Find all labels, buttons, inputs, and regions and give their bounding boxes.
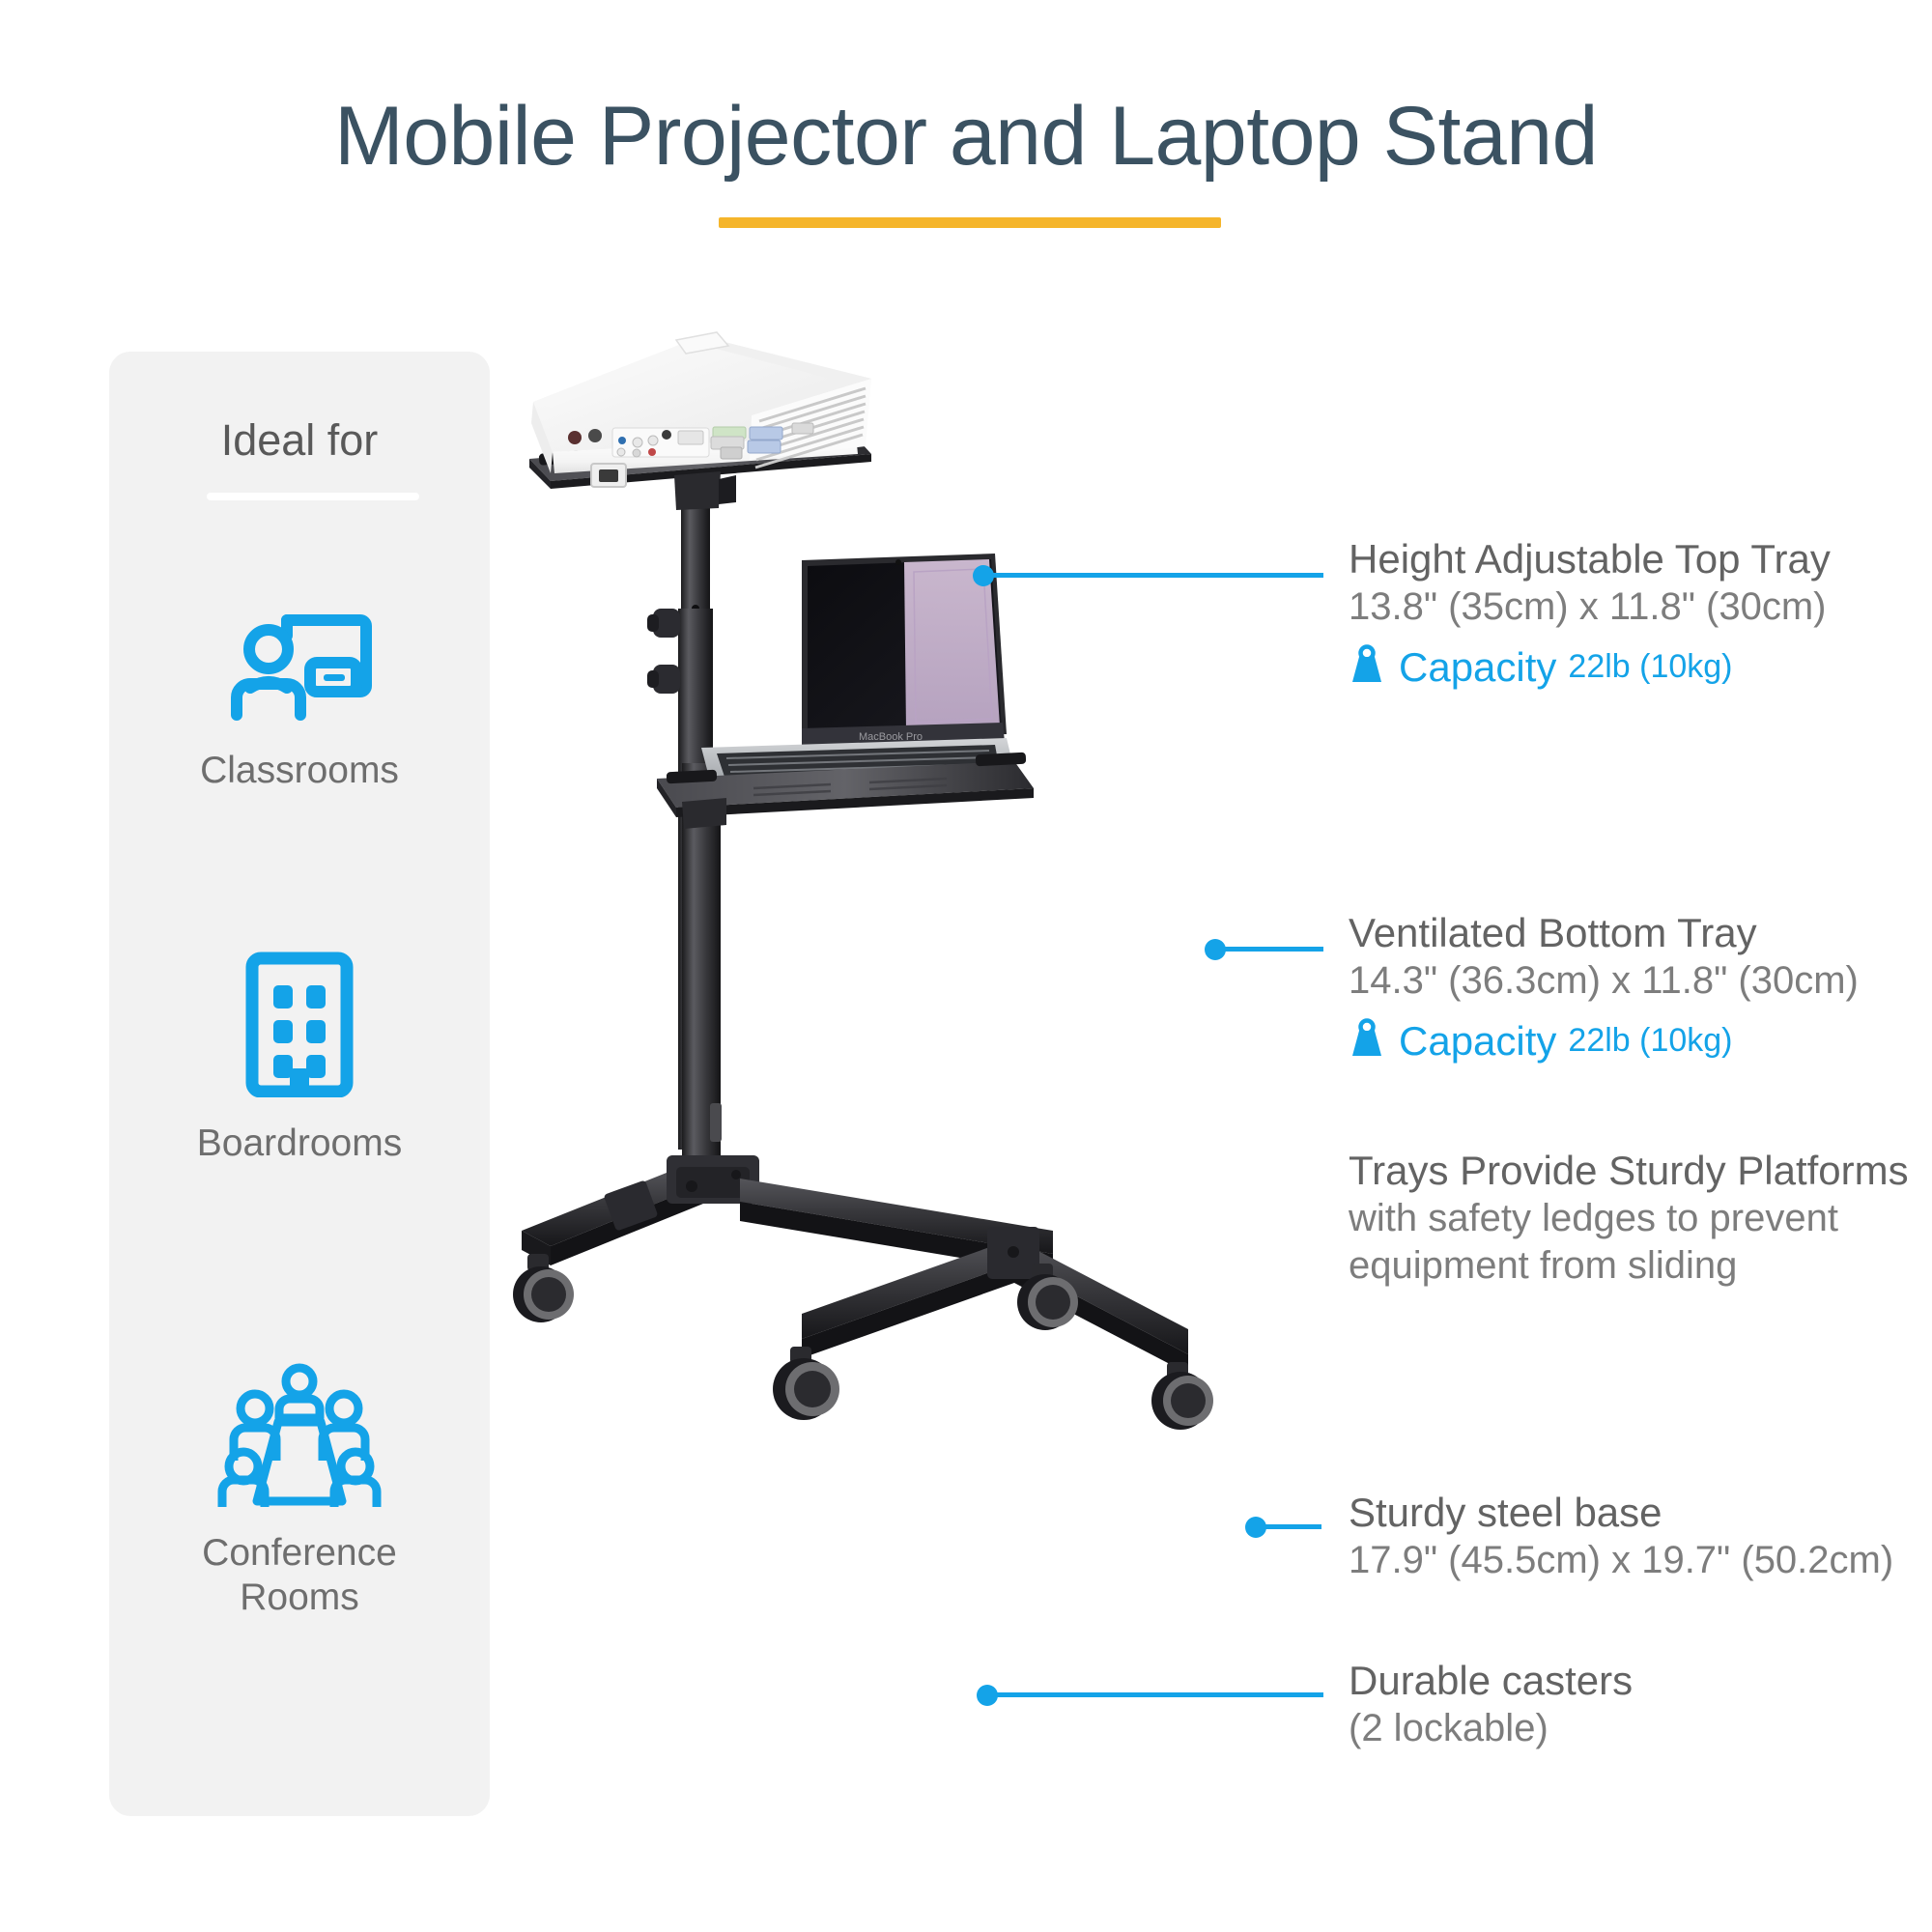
title-accent-rule: [719, 217, 1221, 228]
ideal-for-heading: Ideal for: [109, 415, 490, 466]
ideal-for-panel: Ideal for Classrooms: [109, 352, 490, 1816]
callout-leader-line: [987, 1692, 1323, 1697]
ideal-item-classrooms: Classrooms: [109, 611, 490, 793]
callout-subtext: 17.9" (45.5cm) x 19.7" (50.2cm): [1349, 1537, 1889, 1584]
callout-leader-dot: [973, 565, 994, 586]
caster-back-left: [513, 1254, 574, 1322]
product-image: MacBook Pro: [512, 319, 1304, 1787]
capacity-row: Capacity 22lb (10kg): [1349, 1018, 1889, 1065]
callout-heading: Durable casters: [1349, 1658, 1889, 1705]
callout-subtext: 13.8" (35cm) x 11.8" (30cm): [1349, 583, 1889, 631]
ideal-item-boardrooms: Boardrooms: [109, 951, 490, 1166]
page-title: Mobile Projector and Laptop Stand: [0, 89, 1932, 185]
caster-front-left: [773, 1347, 839, 1420]
capacity-row: Capacity 22lb (10kg): [1349, 644, 1889, 691]
ideal-item-label: Conference Rooms: [109, 1531, 490, 1620]
ideal-item-label: Boardrooms: [109, 1122, 490, 1166]
callout-leader-line: [1215, 947, 1323, 952]
callout-leader-dot: [1245, 1517, 1266, 1538]
height-adjust-knob-lower: [647, 665, 680, 694]
classroom-icon: [109, 611, 490, 729]
weight-icon: [1349, 644, 1385, 690]
callout-leader-dot: [977, 1685, 998, 1706]
callout-subtext: 14.3" (36.3cm) x 11.8" (30cm): [1349, 957, 1889, 1005]
capacity-label: Capacity: [1399, 644, 1556, 691]
height-adjust-knob-upper: [647, 609, 680, 638]
building-icon: [109, 951, 490, 1102]
ideal-item-conference-rooms: Conference Rooms: [109, 1362, 490, 1620]
weight-icon: [1349, 1018, 1385, 1064]
capacity-label: Capacity: [1399, 1018, 1556, 1065]
ideal-item-label-line2: Rooms: [240, 1577, 359, 1618]
callout-heading: Sturdy steel base: [1349, 1490, 1889, 1537]
caster-front-right: [1151, 1362, 1213, 1430]
callout-heading: Ventilated Bottom Tray: [1349, 910, 1889, 957]
callout-leader-dot: [1205, 939, 1226, 960]
capacity-value: 22lb (10kg): [1568, 1022, 1732, 1060]
callout-subtext: (2 lockable): [1349, 1705, 1889, 1752]
infographic-page: Mobile Projector and Laptop Stand Ideal …: [0, 0, 1932, 1932]
callout-subtext-line1: with safety ledges to prevent: [1349, 1195, 1932, 1242]
callout-leader-line: [983, 573, 1323, 578]
ideal-for-divider: [207, 493, 419, 500]
ideal-item-label-line1: Conference: [202, 1532, 397, 1574]
callout-subtext-line2: equipment from sliding: [1349, 1242, 1932, 1290]
callout-heading: Height Adjustable Top Tray: [1349, 536, 1889, 583]
conference-icon: [109, 1362, 490, 1512]
steel-base: [513, 1155, 1213, 1430]
ideal-item-label: Classrooms: [109, 749, 490, 793]
capacity-value: 22lb (10kg): [1568, 648, 1732, 686]
callout-heading: Trays Provide Sturdy Platforms: [1349, 1148, 1932, 1195]
